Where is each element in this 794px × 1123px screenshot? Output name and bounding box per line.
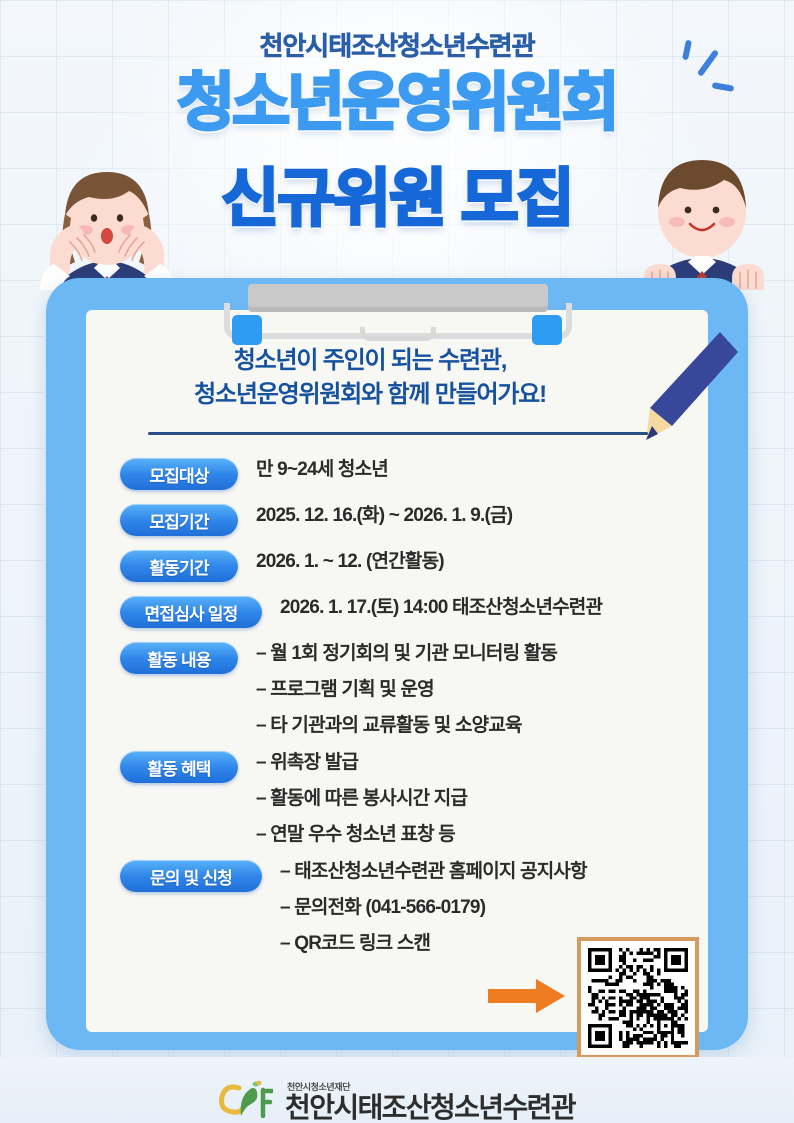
row-values: 2026. 1. ~ 12. (연간활동) (256, 550, 444, 571)
clipboard-corner-right (532, 315, 562, 345)
row-value: 2025. 12. 16.(화) ~ 2026. 1. 9.(금) (256, 506, 512, 525)
header-kicker: 천안시태조산청소년수련관 (0, 26, 794, 63)
row-value-qr-hint: – QR코드 링크 스캔 (280, 934, 587, 953)
info-row: 모집대상 만 9~24세 청소년 (86, 458, 708, 490)
row-value: 만 9~24세 청소년 (256, 460, 388, 479)
row-values: – 태조산청소년수련관 홈페이지 공지사항 – 문의전화 (041-566-01… (280, 860, 587, 953)
row-value: 2026. 1. ~ 12. (연간활동) (256, 552, 444, 571)
row-value: – 활동에 따른 봉사시간 지급 (256, 789, 467, 808)
row-values: 만 9~24세 청소년 (256, 458, 388, 479)
info-rows: 모집대상 만 9~24세 청소년 모집기간 2025. 12. 16.(화) ~… (86, 458, 708, 969)
header-title-line1: 청소년운영위원회 (0, 72, 794, 135)
row-label-recruit-target: 모집대상 (120, 458, 238, 490)
row-values: 2025. 12. 16.(화) ~ 2026. 1. 9.(금) (256, 504, 512, 525)
row-label-activity-benefit: 활동 혜택 (120, 751, 238, 783)
poster-root: 천안시태조산청소년수련관 청소년운영위원회 신규위원 모집 (0, 0, 794, 1123)
row-label-inquiry-apply: 문의 및 신청 (120, 860, 262, 892)
info-row: 모집기간 2025. 12. 16.(화) ~ 2026. 1. 9.(금) (86, 504, 708, 536)
info-row: 활동 내용 – 월 1회 정기회의 및 기관 모니터링 활동 – 프로그램 기획… (86, 642, 708, 735)
info-row: 면접심사 일정 2026. 1. 17.(토) 14:00 태조산청소년수련관 (86, 596, 708, 628)
qr-code[interactable] (577, 937, 699, 1059)
student-boy-illustration (622, 150, 794, 290)
row-value: – 타 기관과의 교류활동 및 소양교육 (256, 716, 557, 735)
clipboard-notch (360, 327, 436, 341)
info-row: 활동기간 2026. 1. ~ 12. (연간활동) (86, 550, 708, 582)
row-value: – 월 1회 정기회의 및 기관 모니터링 활동 (256, 644, 557, 663)
lead-divider (148, 432, 648, 435)
row-values: – 월 1회 정기회의 및 기관 모니터링 활동 – 프로그램 기획 및 운영 … (256, 642, 557, 735)
clipboard-corner-left (232, 315, 262, 345)
row-values: – 위촉장 발급 – 활동에 따른 봉사시간 지급 – 연말 우수 청소년 표창… (256, 751, 467, 844)
row-label-activity-content: 활동 내용 (120, 642, 238, 674)
foundation-name: 천안시청소년재단 (285, 1080, 350, 1093)
row-label-interview-schedule: 면접심사 일정 (120, 596, 262, 628)
row-value-phone: – 문의전화 (041-566-0179) (280, 898, 587, 917)
row-values: 2026. 1. 17.(토) 14:00 태조산청소년수련관 (280, 596, 602, 617)
row-value: – 태조산청소년수련관 홈페이지 공지사항 (280, 862, 587, 881)
info-row: 활동 혜택 – 위촉장 발급 – 활동에 따른 봉사시간 지급 – 연말 우수 … (86, 751, 708, 844)
lead-line-1: 청소년이 주인이 되는 수련관, (96, 344, 644, 378)
lead-copy: 청소년이 주인이 되는 수련관, 청소년운영위원회와 함께 만들어가요! (96, 344, 644, 412)
clipboard-clamp (248, 284, 548, 312)
row-label-recruit-period: 모집기간 (120, 504, 238, 536)
foundation-logo-icon (219, 1078, 273, 1123)
arrow-right-icon (488, 978, 566, 1019)
row-value: – 연말 우수 청소년 표창 등 (256, 825, 467, 844)
student-girl-illustration (22, 150, 192, 290)
row-label-activity-period: 활동기간 (120, 550, 238, 582)
row-value: – 위촉장 발급 (256, 753, 467, 772)
row-value: – 프로그램 기획 및 운영 (256, 680, 557, 699)
footer-logo: 천안시청소년재단 천안시태조산청소년수련관 (0, 1078, 794, 1123)
footer-logo-text: 천안시청소년재단 천안시태조산청소년수련관 (285, 1080, 575, 1122)
row-value: 2026. 1. 17.(토) 14:00 태조산청소년수련관 (280, 598, 602, 617)
center-name: 천안시태조산청소년수련관 (285, 1094, 575, 1122)
lead-line-2: 청소년운영위원회와 함께 만들어가요! (96, 378, 644, 412)
qr-canvas[interactable] (588, 948, 688, 1048)
